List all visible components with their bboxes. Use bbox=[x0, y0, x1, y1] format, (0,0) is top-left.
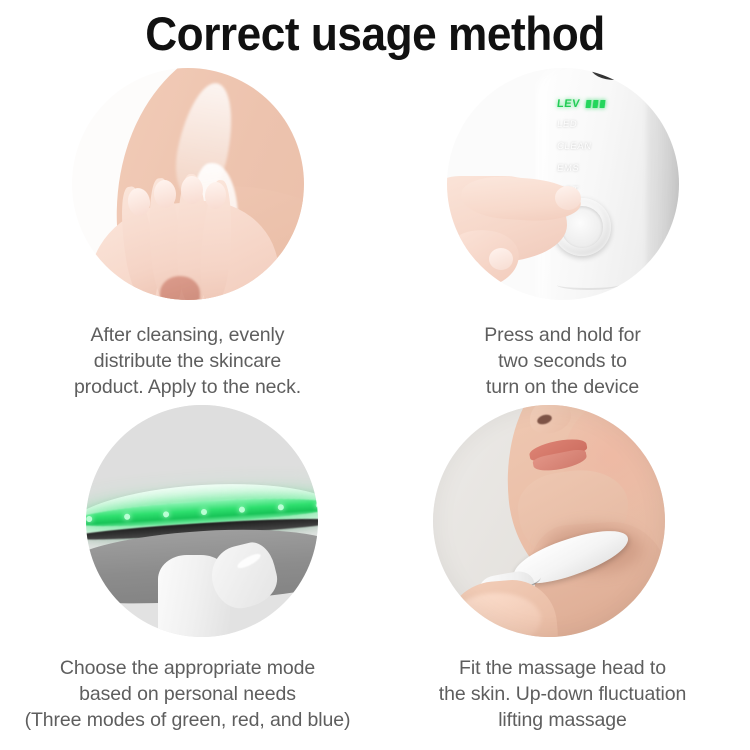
level-indicator: LEV bbox=[556, 98, 643, 110]
caption-line: turn on the device bbox=[375, 374, 750, 400]
mode-label-ems: EMS bbox=[556, 161, 644, 176]
photo-woman-using-device bbox=[433, 405, 665, 637]
caption-line: Choose the appropriate mode bbox=[0, 655, 375, 681]
caption-choose-mode: Choose the appropriate mode based on per… bbox=[0, 655, 375, 733]
mode-label-led: LED bbox=[556, 117, 644, 132]
photo-pressing-power-button: LEV LED CLEAN EMS HOT bbox=[447, 68, 679, 300]
thumbnail bbox=[489, 248, 513, 270]
device-edge-shading bbox=[647, 68, 679, 300]
caption-line: two seconds to bbox=[375, 348, 750, 374]
fingernail-3 bbox=[180, 176, 202, 204]
caption-line: (Three modes of green, red, and blue) bbox=[0, 707, 375, 733]
caption-line: Press and hold for bbox=[375, 322, 750, 348]
caption-line: distribute the skincare bbox=[0, 348, 375, 374]
level-label: LEV bbox=[556, 98, 580, 110]
infographic-page: Correct usage method After cleansing, ev… bbox=[0, 0, 750, 750]
caption-line: the skin. Up-down fluctuation bbox=[375, 681, 750, 707]
photo-hand-applying-skincare bbox=[72, 68, 304, 300]
caption-line: lifting massage bbox=[375, 707, 750, 733]
photo-massage-head-led bbox=[86, 405, 318, 637]
caption-power-on: Press and hold for two seconds to turn o… bbox=[375, 322, 750, 400]
mode-label-clean: CLEAN bbox=[556, 139, 644, 154]
step-card-apply-skincare: After cleansing, evenly distribute the s… bbox=[0, 68, 375, 400]
caption-apply-skincare: After cleansing, evenly distribute the s… bbox=[0, 322, 375, 400]
device-display-panel: LEV LED CLEAN EMS HOT bbox=[557, 98, 643, 192]
device-vent-slot bbox=[561, 296, 619, 300]
step-card-power-on: LEV LED CLEAN EMS HOT Press and hold for bbox=[375, 68, 750, 400]
page-title: Correct usage method bbox=[23, 6, 728, 61]
step-card-massage: Fit the massage head to the skin. Up-dow… bbox=[375, 405, 750, 733]
caption-line: Fit the massage head to bbox=[375, 655, 750, 681]
device-vent-slot bbox=[557, 280, 619, 290]
caption-line: After cleansing, evenly bbox=[0, 322, 375, 348]
level-bars-icon bbox=[585, 100, 605, 108]
skin-shadow-accent bbox=[160, 276, 200, 300]
caption-line: product. Apply to the neck. bbox=[0, 374, 375, 400]
caption-massage: Fit the massage head to the skin. Up-dow… bbox=[375, 655, 750, 733]
step-card-choose-mode: Choose the appropriate mode based on per… bbox=[0, 405, 375, 733]
caption-line: based on personal needs bbox=[0, 681, 375, 707]
photo-vignette bbox=[433, 405, 665, 637]
